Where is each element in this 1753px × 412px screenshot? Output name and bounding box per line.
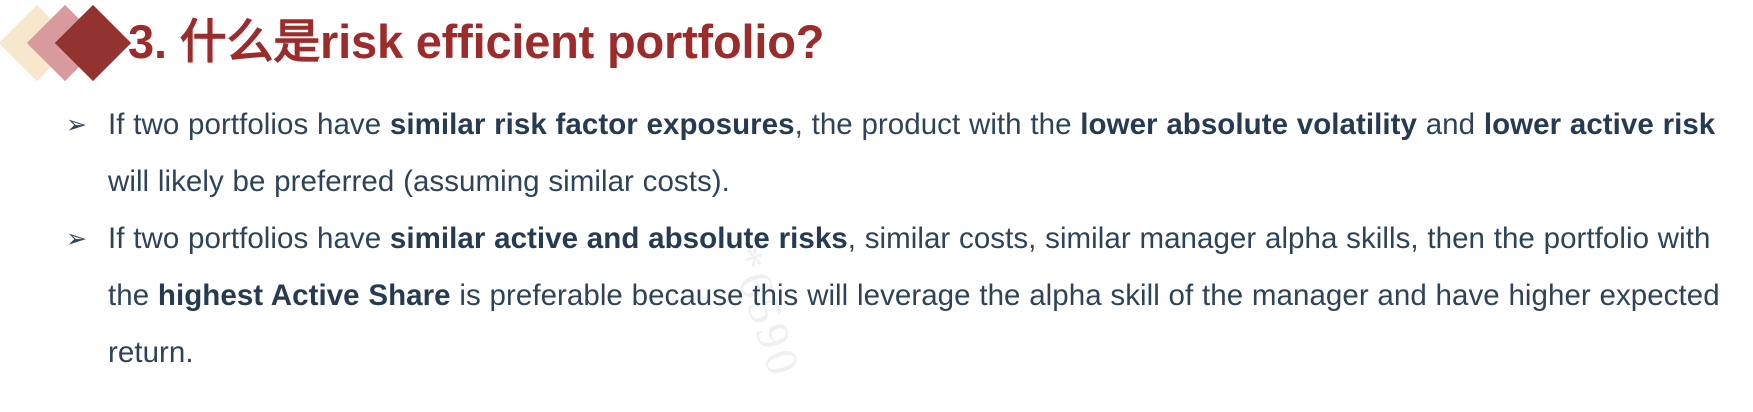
emphasis-text: lower absolute volatility bbox=[1080, 108, 1417, 141]
emphasis-text: lower active risk bbox=[1484, 108, 1715, 141]
emphasis-text: similar active and absolute risks bbox=[390, 222, 848, 255]
plain-text: If two portfolios have bbox=[108, 108, 390, 141]
plain-text: and bbox=[1417, 108, 1484, 141]
list-item-text: If two portfolios have similar risk fact… bbox=[108, 96, 1738, 210]
plain-text: will likely be preferred (assuming simil… bbox=[108, 165, 730, 198]
page-title: 3. 什么是risk efficient portfolio? bbox=[128, 18, 824, 69]
plain-text: If two portfolios have bbox=[108, 222, 390, 255]
list-item: ➢ If two portfolios have similar active … bbox=[58, 210, 1738, 381]
bullet-arrow-icon: ➢ bbox=[58, 210, 108, 267]
plain-text: , the product with the bbox=[795, 108, 1081, 141]
bullet-arrow-icon: ➢ bbox=[58, 96, 108, 153]
emphasis-text: similar risk factor exposures bbox=[390, 108, 795, 141]
bullet-list: ➢ If two portfolios have similar risk fa… bbox=[58, 96, 1738, 381]
list-item-text: If two portfolios have similar active an… bbox=[108, 210, 1738, 381]
slide-title-row: 3. 什么是risk efficient portfolio? bbox=[0, 0, 824, 86]
slide-canvas: *6590 3. 什么是risk efficient portfolio? ➢ … bbox=[0, 0, 1753, 412]
emphasis-text: highest Active Share bbox=[158, 279, 451, 312]
list-item: ➢ If two portfolios have similar risk fa… bbox=[58, 96, 1738, 210]
diamond-decoration-icon bbox=[0, 0, 132, 86]
